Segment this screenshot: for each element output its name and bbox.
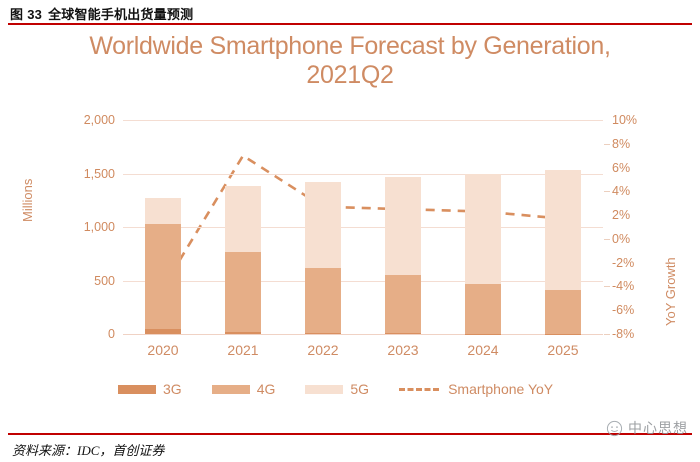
y-tick-label-left: 2,000: [84, 113, 115, 127]
legend-label-3g: 3G: [163, 381, 182, 397]
bar-segment-4g: [385, 275, 421, 333]
legend-label-smartphone-yoy: Smartphone YoY: [448, 381, 553, 397]
bar-segment-3g: [225, 332, 261, 334]
x-tick-label-2023: 2023: [363, 342, 443, 358]
bar-stack-2025[interactable]: [545, 170, 581, 334]
bar-segment-4g: [145, 224, 181, 329]
footer-divider: [8, 433, 692, 435]
y-tick-label-right: -2%: [612, 256, 634, 270]
gridline: [123, 174, 603, 175]
bar-segment-5g: [385, 177, 421, 275]
bar-segment-4g: [545, 290, 581, 333]
bar-segment-3g: [385, 333, 421, 334]
bar-segment-4g: [305, 268, 341, 333]
x-tick-label-2025: 2025: [523, 342, 603, 358]
source-note: 资料来源：IDC，首创证券: [12, 440, 164, 459]
y-tick-label-right: 4%: [612, 184, 630, 198]
y-tick-label-right: 6%: [612, 161, 630, 175]
x-tick-label-2021: 2021: [203, 342, 283, 358]
watermark-text: 中心思想: [628, 418, 688, 438]
legend-item-smartphone-yoy[interactable]: Smartphone YoY: [399, 381, 553, 397]
legend-label-4g: 4G: [257, 381, 276, 397]
bar-stack-2021[interactable]: [225, 186, 261, 334]
y-axis-label-left: Millions: [20, 179, 35, 222]
y-tick-label-right: -6%: [612, 303, 634, 317]
y-tick-label-right: 8%: [612, 137, 630, 151]
bar-segment-3g: [305, 333, 341, 334]
legend-label-5g: 5G: [350, 381, 369, 397]
gridline: [123, 120, 603, 121]
caption-divider: [8, 23, 692, 25]
y-tick-label-left: 0: [108, 327, 115, 341]
y-tick-label-left: 1,000: [84, 220, 115, 234]
figure-number: 33: [27, 7, 42, 22]
plot-area: [123, 120, 603, 334]
gridline: [123, 227, 603, 228]
watermark: 中心思想: [606, 418, 688, 438]
gridline: [123, 281, 603, 282]
y-axis-label-right: YoY Growth: [663, 257, 678, 326]
bar-stack-2023[interactable]: [385, 177, 421, 334]
y-tick-label-right: -4%: [612, 279, 634, 293]
x-tick-label-2024: 2024: [443, 342, 523, 358]
bar-segment-3g: [145, 329, 181, 334]
y-tick-mark-right: [604, 239, 610, 240]
legend-item-5g[interactable]: 5G: [305, 381, 369, 397]
y-tick-label-right: 10%: [612, 113, 637, 127]
y-tick-mark-right: [604, 334, 610, 335]
gridline: [123, 334, 603, 335]
y-tick-label-right: 0%: [612, 232, 630, 246]
legend-swatch-smartphone-yoy: [399, 388, 439, 391]
bar-stack-2020[interactable]: [145, 198, 181, 334]
bar-segment-5g: [545, 170, 581, 290]
chart-legend: 3G 4G 5G Smartphone YoY: [118, 381, 588, 397]
x-tick-label-2022: 2022: [283, 342, 363, 358]
bar-segment-4g: [225, 252, 261, 332]
figure-caption: 图33全球智能手机出货量预测: [10, 4, 193, 23]
y-tick-mark-right: [604, 191, 610, 192]
x-tick-label-2020: 2020: [123, 342, 203, 358]
legend-swatch-4g: [212, 385, 250, 394]
y-tick-label-right: 2%: [612, 208, 630, 222]
legend-swatch-5g: [305, 385, 343, 394]
chart-container: Worldwide Smartphone Forecast by Generat…: [8, 26, 692, 418]
bar-segment-5g: [145, 198, 181, 224]
bar-stack-2024[interactable]: [465, 174, 501, 334]
y-tick-mark-right: [604, 286, 610, 287]
legend-swatch-3g: [118, 385, 156, 394]
bar-segment-5g: [465, 174, 501, 284]
y-tick-label-left: 500: [94, 274, 115, 288]
legend-item-4g[interactable]: 4G: [212, 381, 276, 397]
y-tick-mark-right: [604, 144, 610, 145]
y-tick-label-right: -8%: [612, 327, 634, 341]
y-tick-label-left: 1,500: [84, 167, 115, 181]
bar-stack-2022[interactable]: [305, 182, 341, 334]
bar-segment-5g: [225, 186, 261, 252]
chart-title: Worldwide Smartphone Forecast by Generat…: [68, 32, 632, 90]
bar-segment-5g: [305, 182, 341, 268]
bar-segment-4g: [465, 284, 501, 334]
watermark-logo-icon: [606, 420, 623, 437]
figure-label: 图: [10, 7, 23, 22]
figure-caption-text: 全球智能手机出货量预测: [48, 7, 193, 22]
legend-item-3g[interactable]: 3G: [118, 381, 182, 397]
